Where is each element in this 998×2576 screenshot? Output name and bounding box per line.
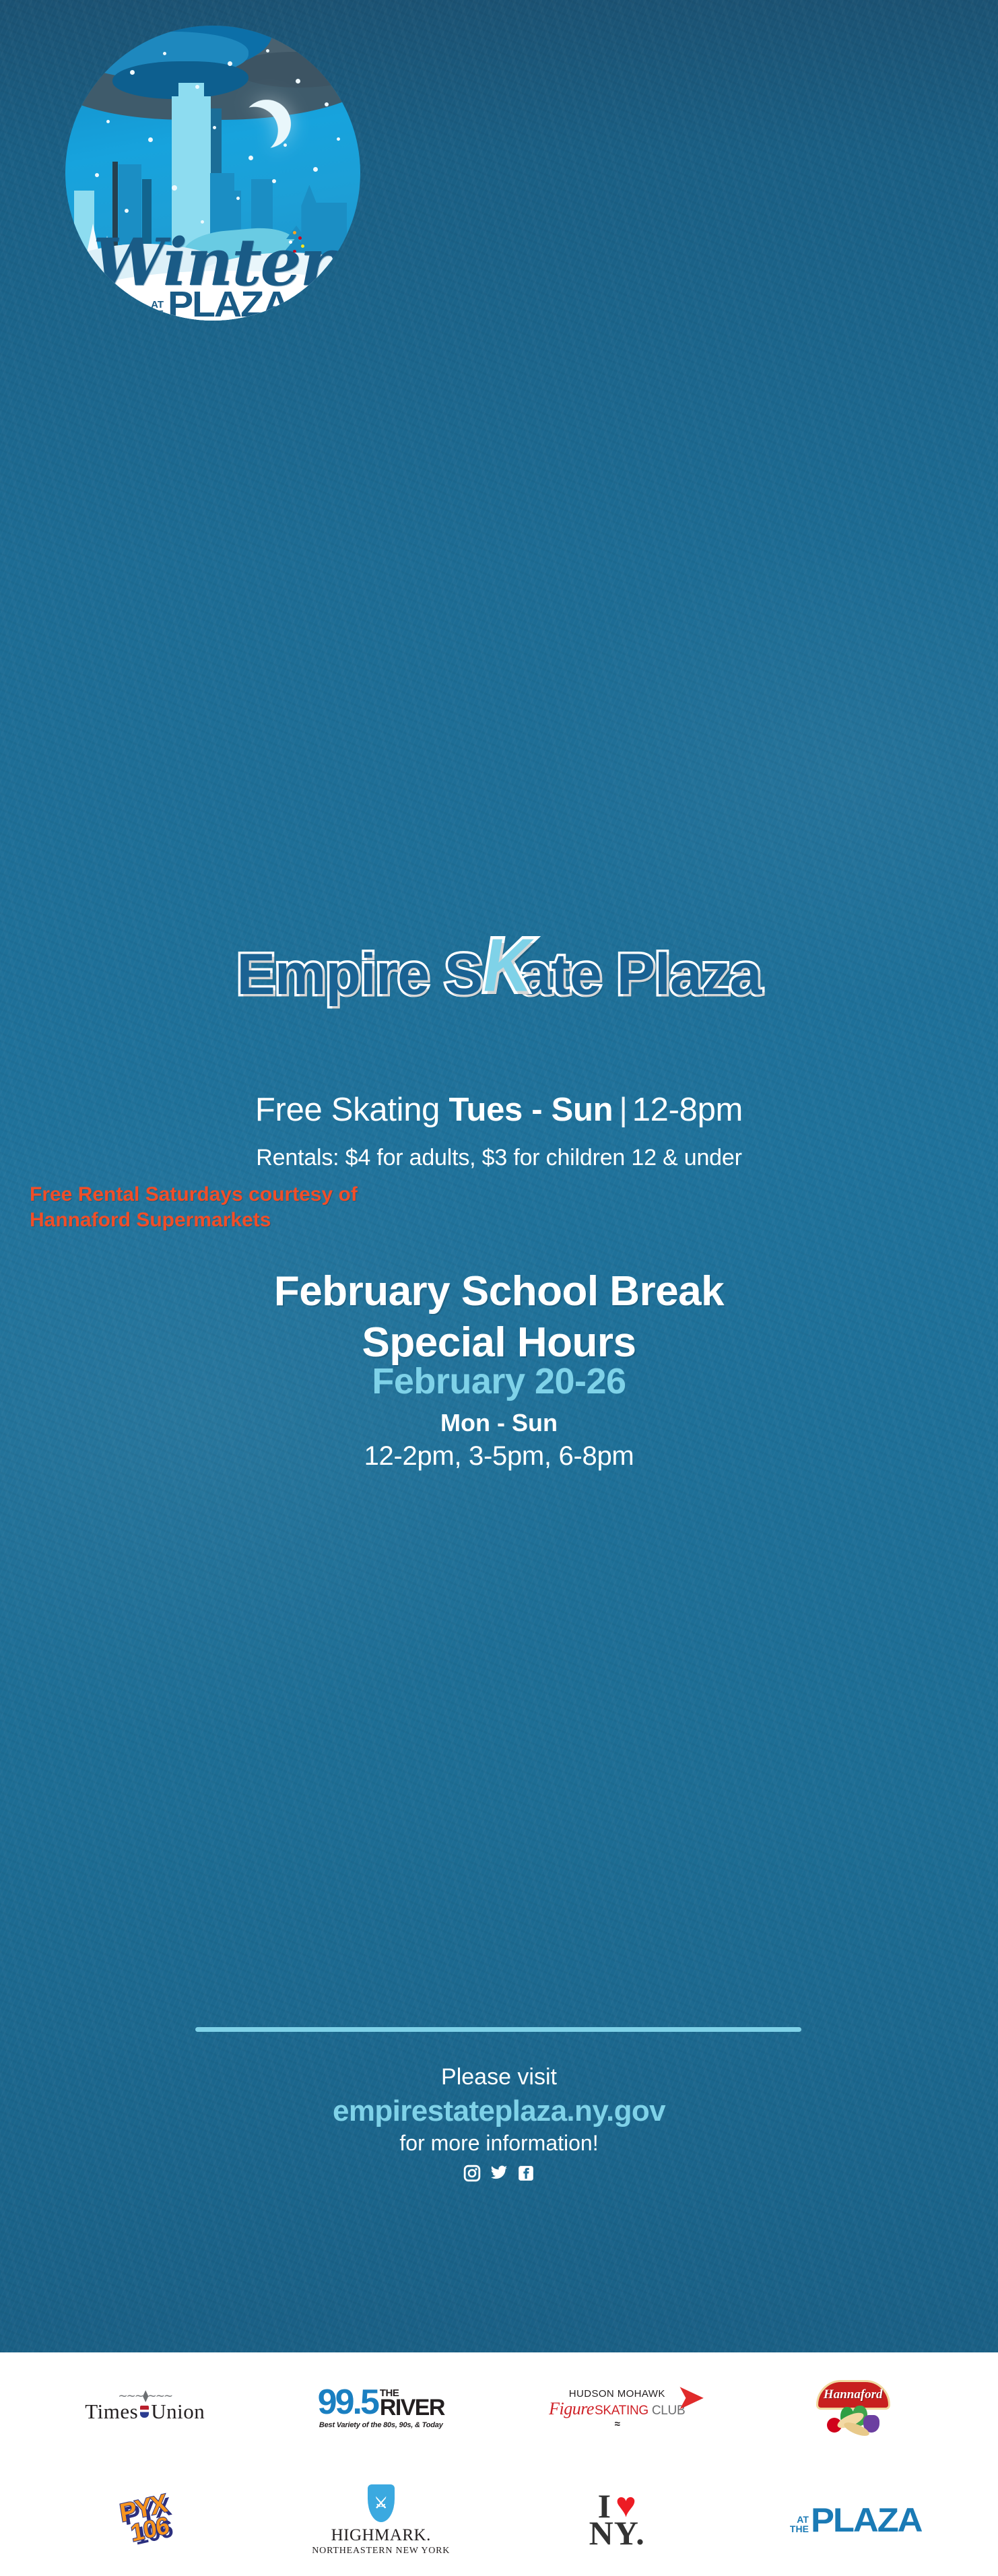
- free-skating-label: Free Skating: [255, 1092, 440, 1128]
- snowflake: [95, 173, 99, 177]
- winter-at-the-plaza-poster: Winter AT THE PLAZA Empire SKate Plaza F…: [0, 0, 998, 2576]
- river-frequency: 99.5: [318, 2387, 378, 2417]
- wave-icon: ≈: [549, 2419, 685, 2429]
- snowflake: [213, 126, 216, 129]
- special-dates: February 20-26: [0, 1360, 998, 1402]
- winter-at-the-plaza-logo: Winter AT THE PLAZA: [65, 26, 360, 321]
- ny-letters: NY.: [589, 2518, 645, 2548]
- winter-scene-circle: Winter AT THE PLAZA: [65, 26, 360, 321]
- snowflake: [248, 156, 253, 160]
- snowflake: [195, 85, 199, 89]
- free-rental-line-2: Hannaford Supermarkets: [30, 1208, 770, 1233]
- sponsor-i-love-ny[interactable]: I ♥ NY.: [499, 2464, 735, 2576]
- page-title: Empire SKate Plaza: [0, 942, 998, 1008]
- the-text: THE: [143, 310, 164, 319]
- facebook-icon[interactable]: [517, 2165, 535, 2182]
- free-skating-line: Free Skating Tues - Sun|12-8pm: [0, 1091, 998, 1129]
- free-skating-days: Tues - Sun: [448, 1092, 613, 1128]
- winter-wordmark: Winter AT THE PLAZA: [65, 234, 360, 319]
- atp-plaza-text: PLAZA: [811, 2507, 921, 2534]
- special-heading-line-1: February School Break: [0, 1266, 998, 1317]
- hmfsc-line-1: HUDSON MOHAWK: [549, 2388, 685, 2400]
- special-hours-heading: February School Break Special Hours: [0, 1266, 998, 1368]
- title-part-1: Empire S: [236, 942, 482, 1007]
- sponsor-row-1: ∼∼∼⧫∼∼∼ Times Union 99.5 THE RIVER: [0, 2352, 998, 2464]
- sponsor-highmark[interactable]: ⚔ HIGHMARK. NORTHEASTERN NEW YORK: [263, 2464, 500, 2576]
- twitter-icon[interactable]: [490, 2165, 508, 2182]
- eagle-icon: ∼∼∼⧫∼∼∼: [85, 2393, 205, 2400]
- sponsor-hannaford[interactable]: Hannaford: [735, 2352, 972, 2464]
- sponsor-times-union[interactable]: ∼∼∼⧫∼∼∼ Times Union: [27, 2352, 263, 2464]
- at-the-stack: AT THE: [143, 300, 164, 320]
- website-url[interactable]: empirestateplaza.ny.gov: [0, 2094, 998, 2128]
- plaza-text: PLAZA: [168, 290, 289, 319]
- snowflake: [337, 137, 340, 141]
- snowflake: [106, 120, 110, 123]
- snowflake: [296, 79, 300, 84]
- snowflake: [272, 179, 276, 183]
- title-part-2: ate Plaza: [519, 942, 761, 1007]
- sponsor-hudson-mohawk-fsc[interactable]: HUDSON MOHAWK Figure SKATING CLUB ≈ ➤: [499, 2352, 735, 2464]
- sponsor-footer: ∼∼∼⧫∼∼∼ Times Union 99.5 THE RIVER: [0, 2352, 998, 2576]
- sponsor-995-the-river[interactable]: 99.5 THE RIVER Best Variety of the 80s, …: [263, 2352, 500, 2464]
- sponsor-pyx-106[interactable]: PYX 106: [27, 2464, 263, 2576]
- times-union-word-2: Union: [151, 2400, 205, 2424]
- river-tagline: Best Variety of the 80s, 90s, & Today: [318, 2421, 444, 2429]
- instagram-icon[interactable]: [463, 2165, 481, 2182]
- snowflake: [284, 143, 287, 147]
- highmark-subtitle: NORTHEASTERN NEW YORK: [312, 2546, 450, 2556]
- atp-at-the-stack: AT THE: [790, 2515, 809, 2534]
- skater-figure-icon: ➤: [676, 2384, 706, 2412]
- free-rental-line-1: Free Rental Saturdays courtesy of: [30, 1182, 770, 1208]
- special-days: Mon - Sun: [0, 1409, 998, 1437]
- shield-icon: [140, 2406, 149, 2418]
- sponsor-at-the-plaza[interactable]: AT THE PLAZA: [735, 2464, 972, 2576]
- visit-block: Please visit empirestateplaza.ny.gov for…: [0, 2064, 998, 2182]
- highmark-shield-icon: ⚔: [368, 2484, 395, 2522]
- pyx-bottom-text: 106: [129, 2515, 172, 2546]
- rentals-line: Rentals: $4 for adults, $3 for children …: [0, 1145, 998, 1171]
- produce-icon: [826, 2403, 882, 2438]
- times-union-word-1: Times: [85, 2400, 138, 2424]
- atp-the-text: THE: [790, 2525, 809, 2534]
- snowflake: [148, 137, 153, 142]
- free-skating-hours: 12-8pm: [632, 1092, 743, 1128]
- visit-line-3: for more information!: [0, 2131, 998, 2156]
- sponsor-row-2: PYX 106 ⚔ HIGHMARK. NORTHEASTERN NEW YOR…: [0, 2464, 998, 2576]
- hmfsc-figure-text: Figure: [549, 2399, 594, 2419]
- special-times: 12-2pm, 3-5pm, 6-8pm: [0, 1441, 998, 1472]
- river-name-text: RIVER: [380, 2398, 444, 2418]
- highmark-title: HIGHMARK.: [312, 2526, 450, 2545]
- snowflake: [313, 167, 318, 172]
- hmfsc-skating-text: SKATING: [595, 2404, 648, 2418]
- free-rental-saturdays-note: Free Rental Saturdays courtesy of Hannaf…: [30, 1182, 770, 1234]
- snowflake: [228, 61, 232, 66]
- divider-rule: [195, 2027, 801, 2032]
- visit-line-1: Please visit: [0, 2064, 998, 2090]
- social-links: [0, 2165, 998, 2182]
- hannaford-wordmark: Hannaford: [824, 2387, 883, 2402]
- times-union-wordmark: Times Union: [85, 2400, 205, 2424]
- snowflake: [125, 209, 129, 213]
- divider: |: [619, 1092, 627, 1128]
- snowflake: [172, 185, 177, 191]
- snowflake: [266, 49, 269, 53]
